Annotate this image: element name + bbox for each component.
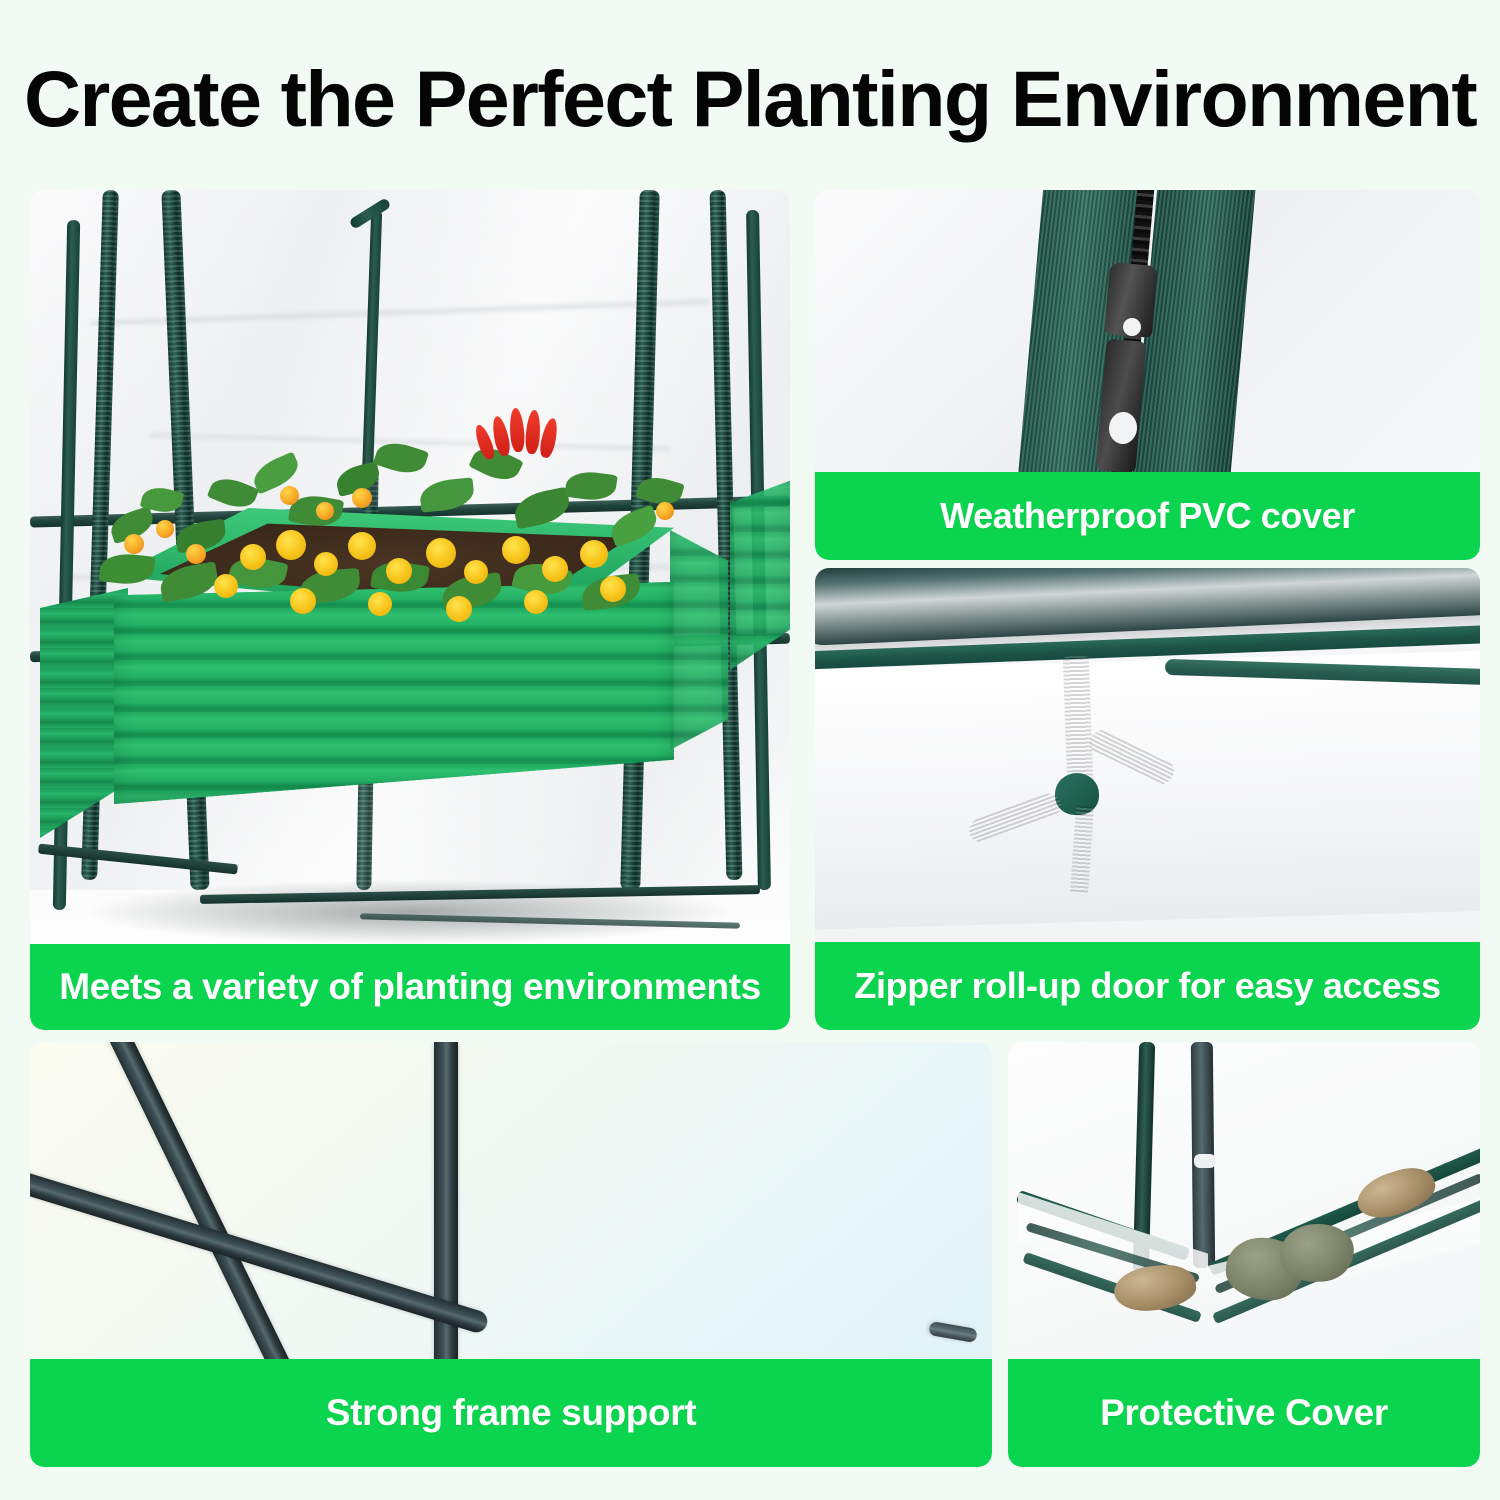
- panel-pvc-cover[interactable]: Weatherproof PVC cover: [815, 190, 1480, 560]
- page-title: Create the Perfect Planting Environment: [24, 58, 1480, 140]
- caption-protective-cover: Protective Cover: [1008, 1359, 1480, 1467]
- panel-protective-cover[interactable]: Protective Cover: [1008, 1042, 1480, 1467]
- pole-connector-band: [1194, 1154, 1216, 1168]
- infographic-page: Create the Perfect Planting Environment: [0, 0, 1500, 1500]
- greenhouse-photo: [30, 190, 790, 1030]
- caption-pvc-cover: Weatherproof PVC cover: [815, 472, 1480, 560]
- caption-meets-variety: Meets a variety of planting environments: [30, 944, 790, 1030]
- plant-foliage: [90, 426, 690, 646]
- panel-meets-variety[interactable]: Meets a variety of planting environments: [30, 190, 790, 1030]
- tie-strap-vertical: [1063, 656, 1094, 787]
- panel-roll-up-door[interactable]: Zipper roll-up door for easy access: [815, 568, 1480, 1030]
- caption-frame-support: Strong frame support: [30, 1359, 992, 1467]
- panel-frame-support[interactable]: Strong frame support: [30, 1042, 992, 1467]
- frame-tube-far-right: [928, 1321, 978, 1343]
- caption-roll-up-door: Zipper roll-up door for easy access: [815, 942, 1480, 1030]
- zipper-tape-right: [1132, 190, 1256, 484]
- pvc-door-sheet: [815, 650, 1480, 929]
